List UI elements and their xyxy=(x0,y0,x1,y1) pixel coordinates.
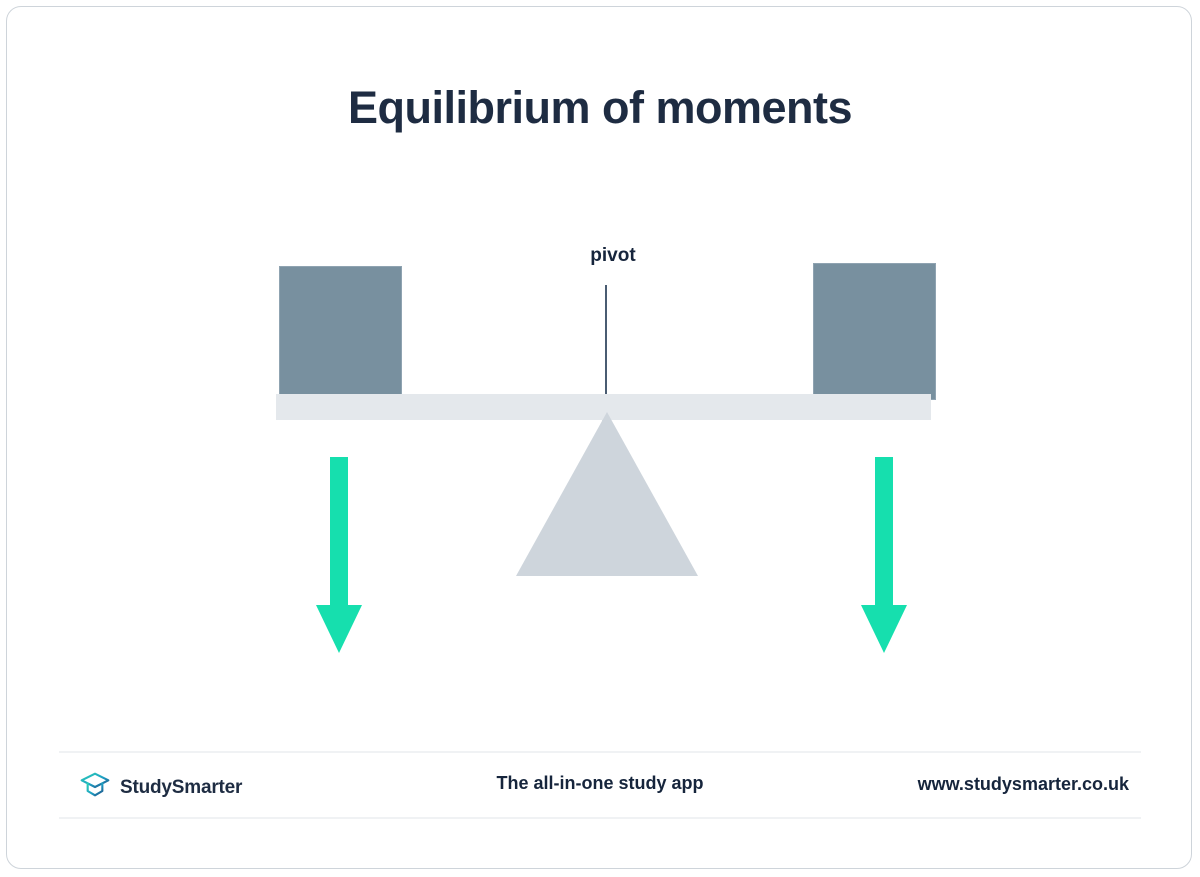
left-force-arrow xyxy=(316,457,362,653)
fulcrum-shape xyxy=(516,412,698,576)
footer: StudySmarter The all-in-one study app ww… xyxy=(7,751,1193,817)
right-arrow-head-icon xyxy=(861,605,907,653)
footer-divider-bottom xyxy=(59,817,1141,819)
left-mass-block xyxy=(279,266,402,400)
left-arrow-head-icon xyxy=(316,605,362,653)
brand-logo-group: StudySmarter xyxy=(79,769,242,806)
right-mass-block xyxy=(813,263,936,400)
pivot-label: pivot xyxy=(543,245,683,267)
right-force-arrow xyxy=(861,457,907,653)
footer-url[interactable]: www.studysmarter.co.uk xyxy=(918,774,1129,795)
footer-tagline: The all-in-one study app xyxy=(350,773,850,794)
left-arrow-shaft xyxy=(330,457,348,607)
brand-name: StudySmarter xyxy=(120,777,242,799)
fulcrum-triangle xyxy=(516,412,698,576)
studysmarter-cube-logo-icon xyxy=(79,769,111,806)
lever-diagram: pivot xyxy=(7,7,1193,747)
slide-card: Equilibrium of moments pivot xyxy=(6,6,1192,869)
right-arrow-shaft xyxy=(875,457,893,607)
